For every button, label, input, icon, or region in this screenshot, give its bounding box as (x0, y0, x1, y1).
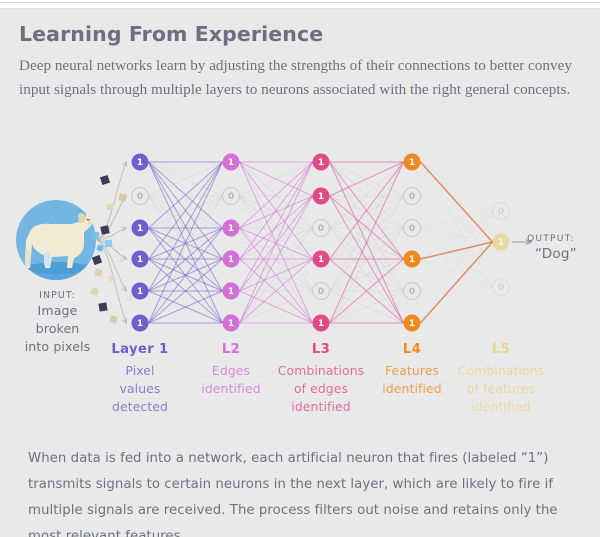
pixel-square (100, 175, 110, 185)
layer-desc-line: values (92, 380, 188, 398)
pixel-square (120, 258, 124, 262)
output-value: “Dog” (535, 245, 597, 265)
neuron-inactive-circle (313, 220, 330, 237)
neuron-node-l3-3[interactable]: 0 (313, 220, 330, 237)
neuron-node-l3-1[interactable]: 1 (313, 154, 330, 171)
layer-desc-line: identified (191, 380, 271, 398)
pixel-square (106, 203, 114, 211)
neuron-active-circle (223, 251, 240, 268)
layer-desc-line: detected (92, 398, 188, 416)
neuron-node-l2-5[interactable]: 1 (223, 283, 240, 300)
neuron-active-circle (313, 315, 330, 332)
network-edge-highlight (421, 242, 493, 259)
layer-desc-line: Combinations (269, 362, 373, 380)
neuron-node-l4-6[interactable]: 1 (404, 315, 421, 332)
network-edge (421, 287, 493, 291)
page-deck: Deep neural networks learn by adjusting … (19, 54, 585, 103)
neuron-value-label: 0 (498, 207, 504, 217)
neuron-active-circle (404, 315, 421, 332)
layer-desc-line: Features (369, 362, 455, 380)
layer-legend-l3: L3Combinationsof edgesidentified (269, 340, 373, 417)
neuron-node-l1-5[interactable]: 1 (132, 283, 149, 300)
layer-legend-l2: L2Edgesidentified (191, 340, 271, 398)
output-kicker: OUTPUT: (527, 232, 597, 245)
neuron-node-l3-5[interactable]: 0 (313, 283, 330, 300)
neuron-active-circle (313, 251, 330, 268)
headline-block: Learning From Experience Deep neural net… (19, 23, 585, 103)
neuron-node-l4-2[interactable]: 0 (404, 188, 421, 205)
network-edge (421, 211, 493, 323)
input-feed-line (97, 196, 127, 240)
neuron-node-l1-2[interactable]: 0 (132, 188, 149, 205)
neuron-node-l5-2[interactable]: 1 (493, 234, 510, 251)
network-edge (421, 196, 493, 287)
neuron-node-l2-6[interactable]: 1 (223, 315, 240, 332)
layer-legend-l5: L5Combinationsof featuresidentified (449, 340, 553, 417)
neuron-value-label: 0 (409, 224, 415, 234)
input-line-2: broken (6, 320, 109, 338)
neuron-active-circle (132, 251, 149, 268)
layer-legend-l1: Layer 1Pixelvaluesdetected (92, 340, 188, 417)
neuron-node-l1-3[interactable]: 1 (132, 220, 149, 237)
layer-name: L3 (269, 340, 373, 360)
neuron-value-label: 0 (409, 287, 415, 297)
neuron-node-l3-4[interactable]: 1 (313, 251, 330, 268)
neuron-node-l4-1[interactable]: 1 (404, 154, 421, 171)
pixel-square (86, 214, 91, 219)
layer-name: Layer 1 (92, 340, 188, 360)
neuron-inactive-circle (404, 220, 421, 237)
layer-name: L2 (191, 340, 271, 360)
neuron-inactive-circle (404, 283, 421, 300)
layer-desc-line: Combinations (449, 362, 553, 380)
input-image-medallion (16, 200, 96, 280)
layer-desc-line: of edges (269, 380, 373, 398)
neuron-value-label: 0 (137, 192, 143, 202)
layer-desc-line: Edges (191, 362, 271, 380)
neuron-node-l1-1[interactable]: 1 (132, 154, 149, 171)
neuron-active-circle (132, 315, 149, 332)
neuron-value-label: 0 (228, 192, 234, 202)
network-edge (421, 287, 493, 323)
neuron-node-l4-3[interactable]: 0 (404, 220, 421, 237)
network-edge (421, 162, 493, 287)
neuron-value-label: 0 (318, 287, 324, 297)
pixel-square (96, 244, 103, 251)
edge-group (97, 162, 493, 323)
pixel-square (94, 268, 102, 276)
neuron-active-circle (223, 154, 240, 171)
neuron-node-l2-2[interactable]: 0 (223, 188, 240, 205)
neuron-value-label: 0 (409, 192, 415, 202)
neuron-node-l1-4[interactable]: 1 (132, 251, 149, 268)
neuron-value-label: 0 (498, 283, 504, 293)
network-edge (421, 211, 493, 228)
neuron-active-circle (132, 220, 149, 237)
neuron-node-l2-4[interactable]: 1 (223, 251, 240, 268)
neuron-node-l4-5[interactable]: 0 (404, 283, 421, 300)
neuron-node-l2-3[interactable]: 1 (223, 220, 240, 237)
neuron-active-circle (404, 154, 421, 171)
input-line-1: Image (6, 302, 109, 320)
neuron-node-l2-1[interactable]: 1 (223, 154, 240, 171)
pixel-square (92, 255, 102, 265)
neuron-active-circle (223, 283, 240, 300)
neuron-node-l4-4[interactable]: 1 (404, 251, 421, 268)
neuron-node-l3-2[interactable]: 1 (313, 188, 330, 205)
neuron-active-circle (313, 188, 330, 205)
neuron-active-circle (404, 251, 421, 268)
neuron-inactive-circle (313, 283, 330, 300)
pixel-square (92, 232, 100, 240)
neuron-active-circle (223, 315, 240, 332)
layer-legend-l4: L4Featuresidentified (369, 340, 455, 398)
layer-desc-line: identified (269, 398, 373, 416)
neuron-active-circle (132, 154, 149, 171)
pixel-square (100, 225, 109, 234)
neuron-inactive-circle (132, 188, 149, 205)
neuron-node-l5-1[interactable]: 0 (493, 203, 510, 220)
network-edge (421, 228, 493, 287)
window-top-hairline (0, 2, 600, 3)
neuron-active-circle (223, 220, 240, 237)
neuron-inactive-circle (404, 188, 421, 205)
page-title: Learning From Experience (19, 23, 585, 47)
neuron-node-l5-3[interactable]: 0 (493, 279, 510, 296)
pixel-square (118, 193, 126, 201)
pixel-square (109, 315, 117, 323)
neuron-active-circle (132, 283, 149, 300)
neuron-active-circle (313, 154, 330, 171)
layer-desc-line: identified (369, 380, 455, 398)
output-caption: OUTPUT: “Dog” (527, 232, 597, 265)
input-kicker: INPUT: (6, 289, 109, 302)
layer-name: L4 (369, 340, 455, 360)
layer-desc-line: Pixel (92, 362, 188, 380)
neuron-active-circle (493, 234, 510, 251)
infographic-page: Learning From Experience Deep neural net… (0, 0, 600, 537)
neuron-inactive-circle (223, 188, 240, 205)
layer-name: L5 (449, 340, 553, 360)
neuron-node-l3-6[interactable]: 1 (313, 315, 330, 332)
pixel-square (105, 240, 113, 248)
neuron-value-label: 0 (318, 224, 324, 234)
neuron-inactive-circle (493, 279, 510, 296)
pixel-square (127, 297, 131, 301)
footer-paragraph: When data is fed into a network, each ar… (28, 446, 580, 537)
layer-desc-line: of features (449, 380, 553, 398)
network-edge-highlight (421, 242, 493, 323)
neuron-node-l1-6[interactable]: 1 (132, 315, 149, 332)
layer-desc-line: identified (449, 398, 553, 416)
neuron-inactive-circle (493, 203, 510, 220)
